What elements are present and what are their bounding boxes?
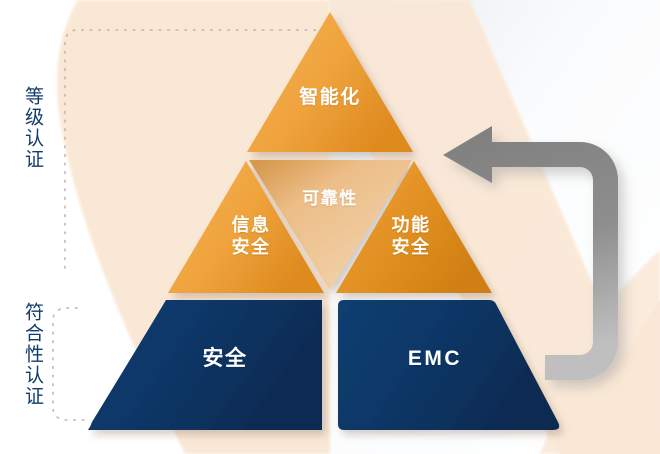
label-compliance-certification: 符合性认证 <box>22 302 42 407</box>
pyramid-and-arrow <box>0 0 660 454</box>
diagram-canvas: 等级认证 符合性认证 智能化 信息 安全 可靠性 功能 安全 安全 EMC <box>0 0 660 454</box>
pyramid-cell-emc[interactable] <box>338 300 559 430</box>
pyramid-cell-smart[interactable] <box>247 12 413 152</box>
label-level-certification: 等级认证 <box>22 86 42 170</box>
pyramid-cell-safety[interactable] <box>88 300 322 430</box>
